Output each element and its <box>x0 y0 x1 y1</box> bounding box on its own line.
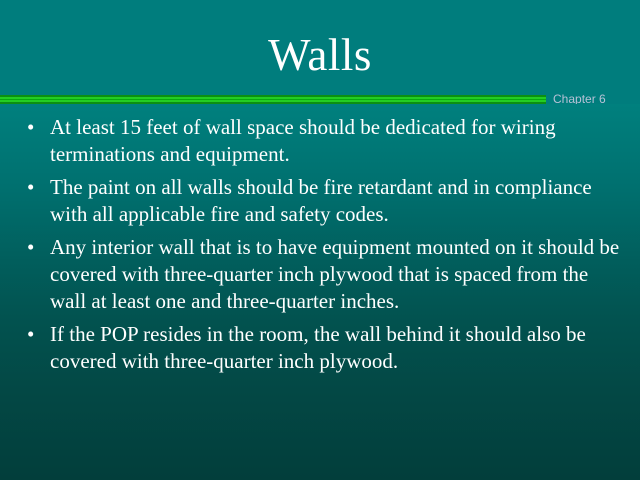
list-item: • Any interior wall that is to have equi… <box>16 234 628 315</box>
presentation-slide: Walls Chapter 6 • At least 15 feet of wa… <box>0 0 640 480</box>
bullet-marker-icon: • <box>27 114 41 141</box>
bullet-marker-icon: • <box>27 234 41 261</box>
list-item: • At least 15 feet of wall space should … <box>16 114 628 168</box>
list-item: • If the POP resides in the room, the wa… <box>16 321 628 375</box>
slide-body: • At least 15 feet of wall space should … <box>0 104 640 480</box>
slide-title: Walls <box>0 30 640 80</box>
slide-header: Walls <box>0 0 640 92</box>
bullet-text: If the POP resides in the room, the wall… <box>50 321 628 375</box>
title-divider-rule <box>0 95 546 104</box>
bullet-list: • At least 15 feet of wall space should … <box>16 114 628 381</box>
divider-seam <box>0 99 546 100</box>
bullet-marker-icon: • <box>27 174 41 201</box>
list-item: • The paint on all walls should be fire … <box>16 174 628 228</box>
bullet-marker-icon: • <box>27 321 41 348</box>
bullet-text: At least 15 feet of wall space should be… <box>50 114 628 168</box>
bullet-text: Any interior wall that is to have equipm… <box>50 234 628 315</box>
bullet-text: The paint on all walls should be fire re… <box>50 174 628 228</box>
